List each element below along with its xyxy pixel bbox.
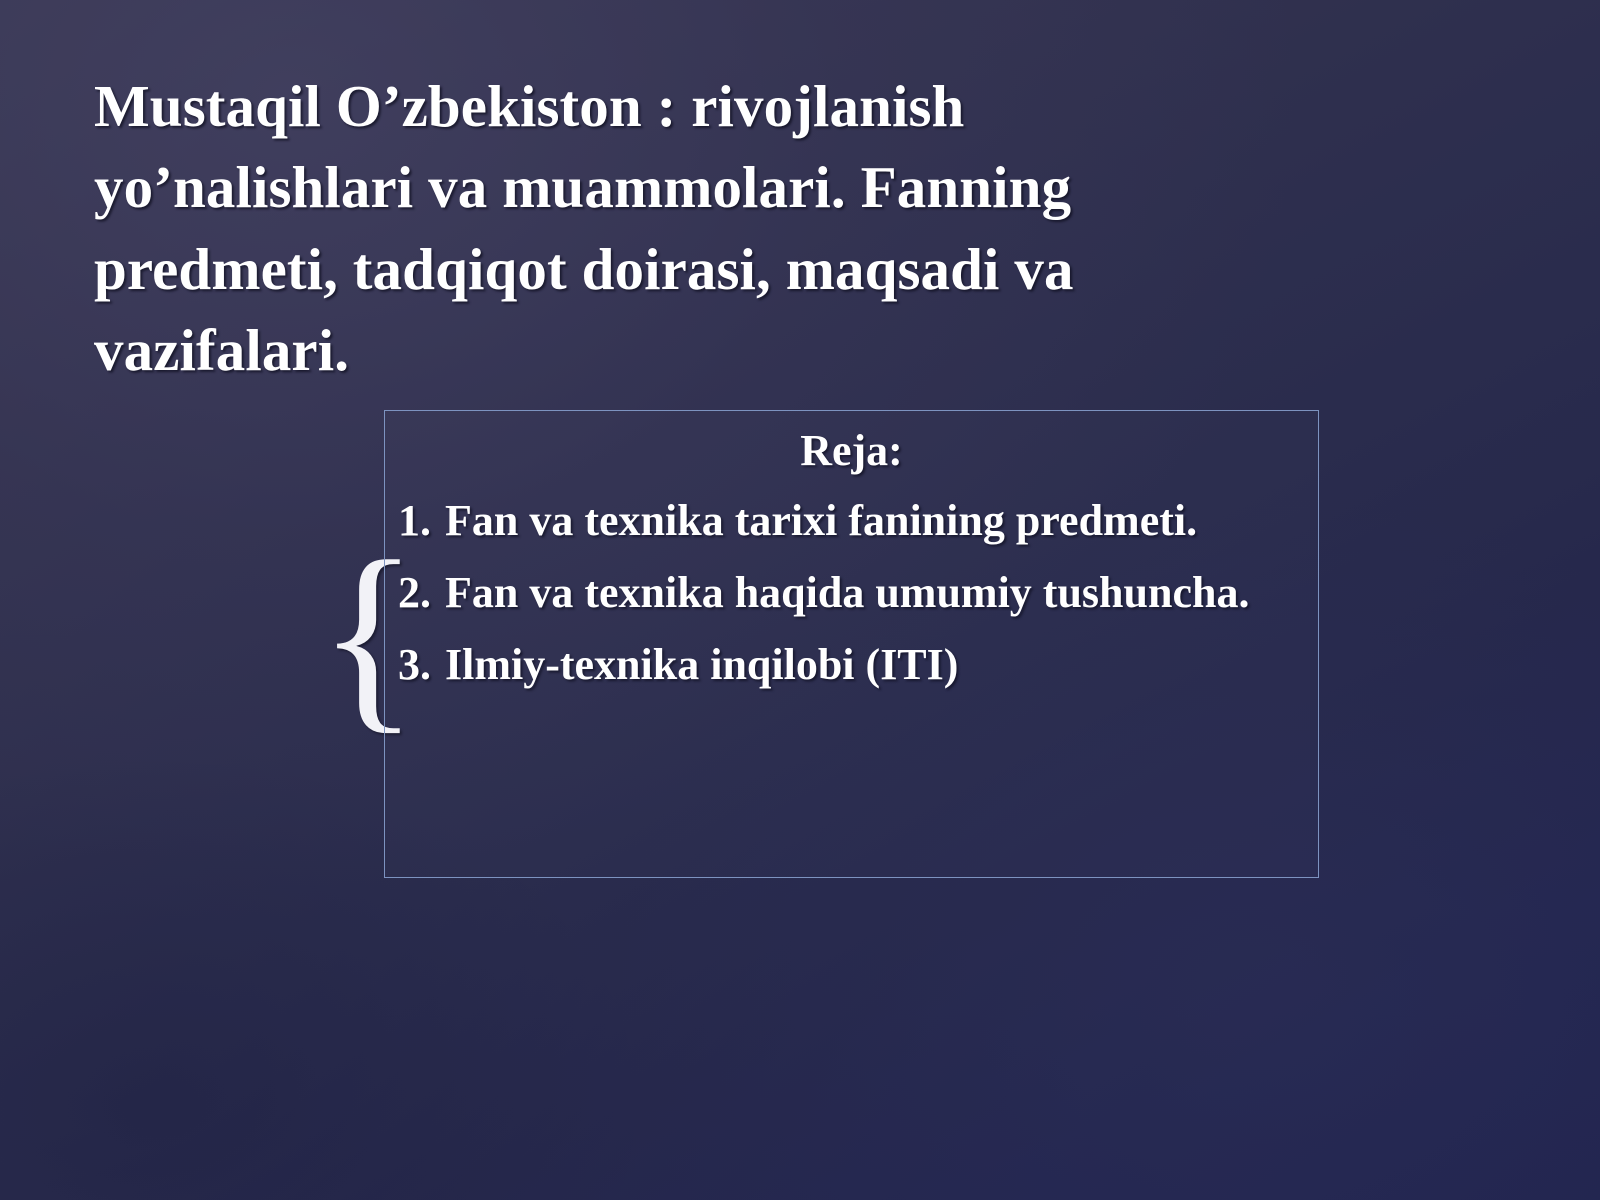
- list-item: 1. Fan va texnika tarixi fanining predme…: [385, 485, 1318, 557]
- slide-title: Mustaqil O’zbekiston : rivojlanish yo’na…: [94, 66, 1274, 392]
- curly-brace-icon: {: [318, 520, 388, 750]
- slide-canvas: Mustaqil O’zbekiston : rivojlanish yo’na…: [0, 0, 1600, 1200]
- list-item-marker: 1.: [385, 485, 445, 557]
- list-item-marker: 3.: [385, 629, 445, 701]
- list-item: 3. Ilmiy-texnika inqilobi (ITI): [385, 629, 1318, 701]
- list-item-text: Fan va texnika tarixi fanining predmeti.: [445, 485, 1318, 557]
- reja-list: 1. Fan va texnika tarixi fanining predme…: [385, 485, 1318, 700]
- list-item-marker: 2.: [385, 557, 445, 629]
- list-item: 2. Fan va texnika haqida umumiy tushunch…: [385, 557, 1318, 629]
- list-item-text: Fan va texnika haqida umumiy tushuncha.: [445, 557, 1318, 629]
- reja-content-box: Reja: 1. Fan va texnika tarixi fanining …: [384, 410, 1319, 878]
- list-item-text: Ilmiy-texnika inqilobi (ITI): [445, 629, 1318, 701]
- reja-heading: Reja:: [385, 427, 1318, 475]
